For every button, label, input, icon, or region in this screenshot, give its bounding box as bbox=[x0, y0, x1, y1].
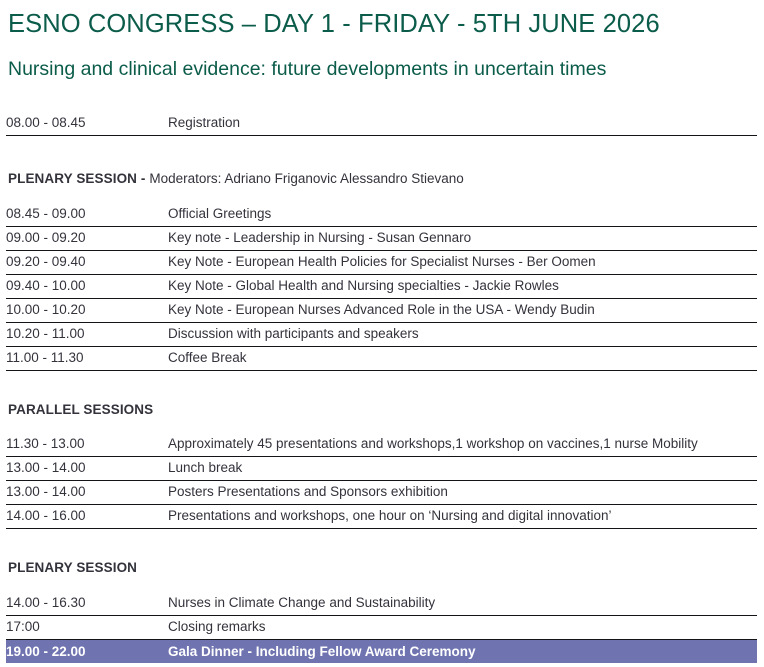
parallel-schedule-block: 11.30 - 13.00 Approximately 45 presentat… bbox=[6, 432, 757, 529]
plenary-1-schedule-table: 08.45 - 09.00 Official Greetings 09.00 -… bbox=[6, 202, 757, 371]
row-desc: Approximately 45 presentations and works… bbox=[168, 432, 757, 456]
row-time: 09.20 - 09.40 bbox=[6, 250, 168, 274]
table-row: 13.00 - 14.00 Posters Presentations and … bbox=[6, 480, 757, 504]
table-row: 14.00 - 16.30 Nurses in Climate Change a… bbox=[6, 591, 757, 615]
table-row: 08.45 - 09.00 Official Greetings bbox=[6, 202, 757, 226]
row-time: 09.40 - 10.00 bbox=[6, 274, 168, 298]
congress-programme-page: ESNO CONGRESS – DAY 1 - FRIDAY - 5TH JUN… bbox=[0, 0, 764, 667]
row-time: 13.00 - 14.00 bbox=[6, 480, 168, 504]
row-desc: Lunch break bbox=[168, 456, 757, 480]
page-title: ESNO CONGRESS – DAY 1 - FRIDAY - 5TH JUN… bbox=[6, 0, 758, 38]
intro-schedule-block: 08.00 - 08.45 Registration bbox=[6, 111, 757, 136]
plenary-1-schedule-body: 08.45 - 09.00 Official Greetings 09.00 -… bbox=[6, 202, 757, 370]
table-row: 09.00 - 09.20 Key note - Leadership in N… bbox=[6, 226, 757, 250]
parallel-schedule-table: 11.30 - 13.00 Approximately 45 presentat… bbox=[6, 432, 757, 529]
parallel-schedule-body: 11.30 - 13.00 Approximately 45 presentat… bbox=[6, 432, 757, 528]
row-desc: Key Note - European Nurses Advanced Role… bbox=[168, 298, 757, 322]
section-label-strong: PARALLEL SESSIONS bbox=[8, 402, 153, 417]
row-desc: Posters Presentations and Sponsors exhib… bbox=[168, 480, 757, 504]
table-row: 17:00 Closing remarks bbox=[6, 615, 757, 639]
table-row: 10.20 - 11.00 Discussion with participan… bbox=[6, 322, 757, 346]
table-row: 11.00 - 11.30 Coffee Break bbox=[6, 346, 757, 370]
table-row: 10.00 - 10.20 Key Note - European Nurses… bbox=[6, 298, 757, 322]
section-label-normal: Moderators: Adriano Friganovic Alessandr… bbox=[149, 171, 463, 186]
row-time: 11.30 - 13.00 bbox=[6, 432, 168, 456]
row-time: 19.00 - 22.00 bbox=[6, 639, 168, 663]
row-desc: Gala Dinner - Including Fellow Award Cer… bbox=[168, 639, 757, 663]
row-time: 17:00 bbox=[6, 615, 168, 639]
page-subtitle: Nursing and clinical evidence: future de… bbox=[6, 38, 758, 80]
row-desc: Discussion with participants and speaker… bbox=[168, 322, 757, 346]
row-desc: Key note - Leadership in Nursing - Susan… bbox=[168, 226, 757, 250]
section-label-strong: PLENARY SESSION bbox=[8, 560, 137, 575]
table-row: 11.30 - 13.00 Approximately 45 presentat… bbox=[6, 432, 757, 456]
row-desc: Coffee Break bbox=[168, 346, 757, 370]
row-desc: Closing remarks bbox=[168, 615, 757, 639]
row-time: 14.00 - 16.00 bbox=[6, 504, 168, 528]
row-desc: Official Greetings bbox=[168, 202, 757, 226]
row-time: 11.00 - 11.30 bbox=[6, 346, 168, 370]
row-desc: Nurses in Climate Change and Sustainabil… bbox=[168, 591, 757, 615]
row-time: 09.00 - 09.20 bbox=[6, 226, 168, 250]
plenary-2-schedule-block: 14.00 - 16.30 Nurses in Climate Change a… bbox=[6, 591, 757, 663]
table-row: 14.00 - 16.00 Presentations and workshop… bbox=[6, 504, 757, 528]
row-time: 14.00 - 16.30 bbox=[6, 591, 168, 615]
row-desc: Presentations and workshops, one hour on… bbox=[168, 504, 757, 528]
section-label-plenary-2: PLENARY SESSION bbox=[6, 561, 137, 575]
section-label-parallel: PARALLEL SESSIONS bbox=[6, 403, 153, 417]
row-desc: Key Note - European Health Policies for … bbox=[168, 250, 757, 274]
row-time: 13.00 - 14.00 bbox=[6, 456, 168, 480]
row-time: 10.00 - 10.20 bbox=[6, 298, 168, 322]
row-desc: Registration bbox=[168, 111, 757, 135]
row-time: 10.20 - 11.00 bbox=[6, 322, 168, 346]
plenary-1-schedule-block: 08.45 - 09.00 Official Greetings 09.00 -… bbox=[6, 202, 757, 371]
intro-schedule-body: 08.00 - 08.45 Registration bbox=[6, 111, 757, 135]
intro-schedule-table: 08.00 - 08.45 Registration bbox=[6, 111, 757, 136]
section-label-plenary-1: PLENARY SESSION - Moderators: Adriano Fr… bbox=[6, 172, 464, 186]
row-desc: Key Note - Global Health and Nursing spe… bbox=[168, 274, 757, 298]
row-time: 08.45 - 09.00 bbox=[6, 202, 168, 226]
plenary-2-schedule-body: 14.00 - 16.30 Nurses in Climate Change a… bbox=[6, 591, 757, 663]
table-row: 13.00 - 14.00 Lunch break bbox=[6, 456, 757, 480]
table-row: 09.40 - 10.00 Key Note - Global Health a… bbox=[6, 274, 757, 298]
row-time: 08.00 - 08.45 bbox=[6, 111, 168, 135]
table-row: 09.20 - 09.40 Key Note - European Health… bbox=[6, 250, 757, 274]
section-label-strong: PLENARY SESSION - bbox=[8, 171, 149, 186]
table-row: 08.00 - 08.45 Registration bbox=[6, 111, 757, 135]
plenary-2-schedule-table: 14.00 - 16.30 Nurses in Climate Change a… bbox=[6, 591, 757, 663]
table-row-highlighted: 19.00 - 22.00 Gala Dinner - Including Fe… bbox=[6, 639, 757, 663]
